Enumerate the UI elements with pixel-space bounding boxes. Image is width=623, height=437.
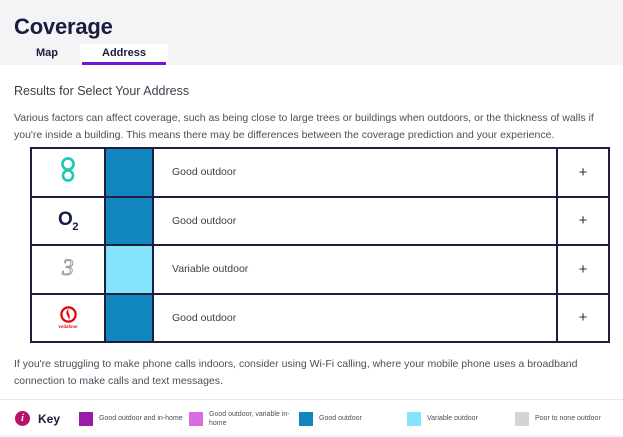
legend-swatch-icon xyxy=(79,412,93,426)
legend-item-label: Good outdoor xyxy=(319,414,362,423)
vodafone-logo-icon: vodafone xyxy=(59,306,78,329)
legend-swatch-icon xyxy=(515,412,529,426)
legend-item-list: Good outdoor and in-home Good outdoor, v… xyxy=(79,410,623,428)
key-label-group: i Key xyxy=(15,411,79,426)
legend-item-label: Good outdoor, variable in-home xyxy=(209,410,299,428)
signal-swatch xyxy=(106,295,154,342)
coverage-status: Good outdoor xyxy=(154,149,556,196)
signal-swatch xyxy=(106,246,154,293)
coverage-page: Coverage Map Address Results for Select … xyxy=(0,0,623,437)
table-row[interactable]: O2 Good outdoor + xyxy=(32,198,608,247)
legend-item: Poor to none outdoor xyxy=(515,412,623,426)
expand-row-button[interactable]: + xyxy=(556,149,608,196)
three-logo-icon: 3 xyxy=(58,254,78,285)
ee-logo-icon xyxy=(61,157,75,188)
results-heading: Results for Select Your Address xyxy=(14,84,189,98)
tab-address[interactable]: Address xyxy=(80,44,168,65)
provider-logo-cell: vodafone xyxy=(32,295,106,342)
legend-swatch-icon xyxy=(299,412,313,426)
provider-logo-cell xyxy=(32,149,106,196)
key-label: Key xyxy=(38,412,60,426)
tab-bar: Map Address xyxy=(14,43,168,65)
o2-logo-icon: O2 xyxy=(58,209,78,233)
provider-coverage-table: Good outdoor + O2 Good outdoor + xyxy=(30,147,610,343)
table-row[interactable]: Good outdoor + xyxy=(32,149,608,198)
legend-item-label: Variable outdoor xyxy=(427,414,478,423)
tab-map[interactable]: Map xyxy=(14,44,80,65)
page-title: Coverage xyxy=(14,14,113,40)
coverage-key-legend: i Key Good outdoor and in-home Good outd… xyxy=(0,399,623,437)
legend-item: Good outdoor, variable in-home xyxy=(189,410,299,428)
svg-text:3: 3 xyxy=(61,255,74,280)
expand-row-button[interactable]: + xyxy=(556,246,608,293)
provider-logo-cell: O2 xyxy=(32,198,106,245)
legend-item: Good outdoor and in-home xyxy=(79,412,189,426)
signal-swatch xyxy=(106,149,154,196)
coverage-intro-text: Various factors can affect coverage, suc… xyxy=(14,110,610,144)
coverage-status: Good outdoor xyxy=(154,295,556,342)
table-row[interactable]: vodafone Good outdoor + xyxy=(32,295,608,344)
legend-item: Good outdoor xyxy=(299,412,407,426)
coverage-status: Good outdoor xyxy=(154,198,556,245)
expand-row-button[interactable]: + xyxy=(556,295,608,342)
legend-item: Variable outdoor xyxy=(407,412,515,426)
legend-swatch-icon xyxy=(407,412,421,426)
signal-swatch xyxy=(106,198,154,245)
table-row[interactable]: 3 Variable outdoor + xyxy=(32,246,608,295)
wifi-calling-note: If you're struggling to make phone calls… xyxy=(14,356,610,390)
provider-logo-cell: 3 xyxy=(32,246,106,293)
legend-swatch-icon xyxy=(189,412,203,426)
info-icon: i xyxy=(15,411,30,426)
coverage-status: Variable outdoor xyxy=(154,246,556,293)
legend-item-label: Good outdoor and in-home xyxy=(99,414,183,423)
legend-item-label: Poor to none outdoor xyxy=(535,414,601,423)
results-card: Results for Select Your Address Various … xyxy=(0,65,623,399)
expand-row-button[interactable]: + xyxy=(556,198,608,245)
